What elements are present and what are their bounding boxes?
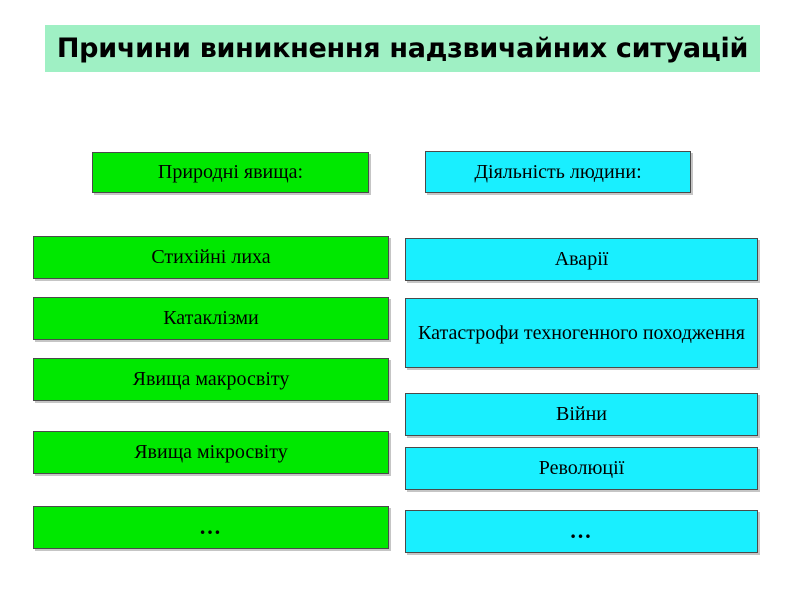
right-item-0-label: Аварії xyxy=(555,248,609,270)
column-header-left-label: Природні явища: xyxy=(158,161,303,183)
right-item-3[interactable]: Революції xyxy=(405,447,758,490)
right-item-3-label: Революції xyxy=(539,457,625,479)
column-header-human-activity[interactable]: Діяльність людини: xyxy=(425,151,691,193)
slide-canvas: Причини виникнення надзвичайних ситуацій… xyxy=(0,0,800,600)
column-header-natural-phenomena[interactable]: Природні явища: xyxy=(92,152,369,193)
left-item-0[interactable]: Стихійні лиха xyxy=(33,236,389,279)
slide-title-banner: Причини виникнення надзвичайних ситуацій xyxy=(45,25,760,72)
column-header-right-label: Діяльність людини: xyxy=(474,161,641,183)
left-item-1-label: Катаклізми xyxy=(163,307,259,329)
left-item-0-label: Стихійні лиха xyxy=(151,246,270,268)
left-item-1[interactable]: Катаклізми xyxy=(33,297,389,340)
left-item-4-label: … xyxy=(199,515,223,540)
page-title: Причини виникнення надзвичайних ситуацій xyxy=(57,35,748,62)
left-item-2-label: Явища макросвіту xyxy=(133,368,290,390)
right-item-2[interactable]: Війни xyxy=(405,393,758,436)
right-item-1[interactable]: Катастрофи техногенного походження xyxy=(405,298,758,368)
left-item-4-ellipsis[interactable]: … xyxy=(33,506,389,549)
left-item-3-label: Явища мікросвіту xyxy=(134,441,288,463)
right-item-1-label: Катастрофи техногенного походження xyxy=(418,321,745,345)
right-item-2-label: Війни xyxy=(556,403,607,425)
right-item-4-ellipsis[interactable]: … xyxy=(405,510,758,553)
right-item-4-label: … xyxy=(570,519,594,544)
left-item-2[interactable]: Явища макросвіту xyxy=(33,358,389,401)
left-item-3[interactable]: Явища мікросвіту xyxy=(33,431,389,474)
right-item-0[interactable]: Аварії xyxy=(405,238,758,281)
